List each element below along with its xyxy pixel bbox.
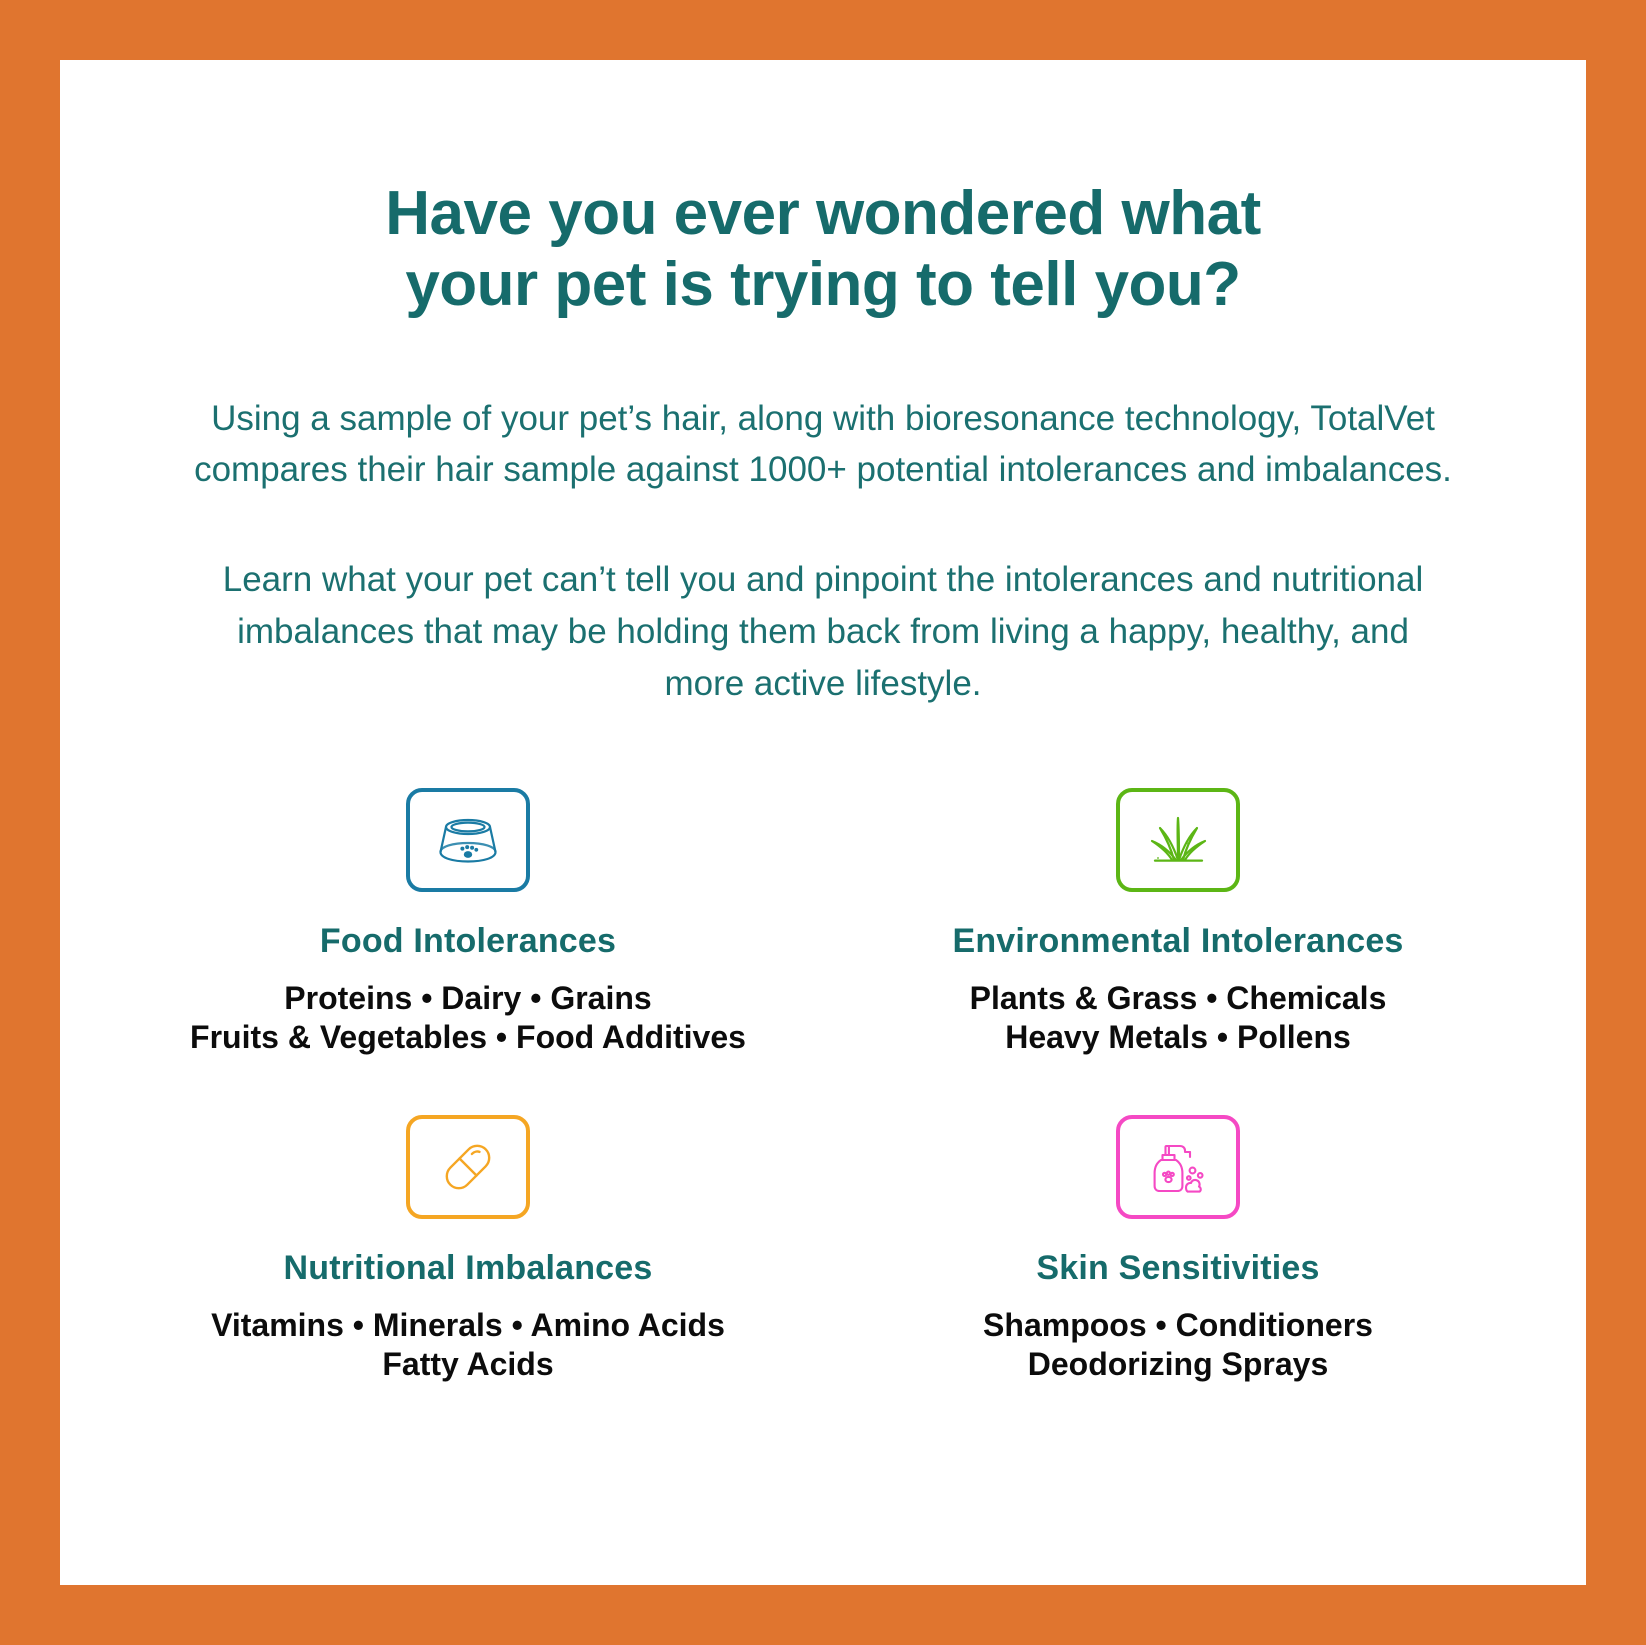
intro-paragraph-2: Learn what your pet can’t tell you and p… (193, 554, 1453, 709)
category-title: Food Intolerances (320, 922, 616, 961)
skin-sensitivities-icon-box (1116, 1115, 1240, 1219)
category-grid: Food Intolerances Proteins • Dairy • Gra… (113, 788, 1533, 1384)
category-description-line-2: Deodorizing Sprays (983, 1345, 1373, 1384)
category-description-line-1: Shampoos • Conditioners (983, 1306, 1373, 1345)
category-description-line-1: Plants & Grass • Chemicals (970, 979, 1387, 1018)
intro-paragraph-1: Using a sample of your pet’s hair, along… (193, 393, 1453, 497)
category-description-line-2: Fruits & Vegetables • Food Additives (190, 1018, 746, 1057)
category-description-line-2: Fatty Acids (211, 1345, 725, 1384)
category-title: Skin Sensitivities (1036, 1249, 1319, 1288)
orange-border-frame: Have you ever wondered what your pet is … (0, 0, 1646, 1645)
nutritional-imbalances-icon-box (406, 1115, 530, 1219)
category-title: Nutritional Imbalances (283, 1249, 652, 1288)
category-card-food-intolerances: Food Intolerances Proteins • Dairy • Gra… (113, 788, 823, 1057)
category-description: Proteins • Dairy • Grains Fruits & Veget… (190, 979, 746, 1057)
category-description: Shampoos • Conditioners Deodorizing Spra… (983, 1306, 1373, 1384)
category-card-skin-sensitivities: Skin Sensitivities Shampoos • Conditione… (823, 1115, 1533, 1384)
category-description-line-1: Proteins • Dairy • Grains (190, 979, 746, 1018)
pill-capsule-icon (438, 1138, 498, 1196)
category-card-environmental-intolerances: Environmental Intolerances Plants & Gras… (823, 788, 1533, 1057)
page-title: Have you ever wondered what your pet is … (263, 178, 1383, 321)
page-title-line-1: Have you ever wondered what (385, 179, 1260, 248)
category-title: Environmental Intolerances (952, 922, 1403, 961)
category-card-nutritional-imbalances: Nutritional Imbalances Vitamins • Minera… (113, 1115, 823, 1384)
grass-icon (1146, 812, 1210, 868)
food-intolerances-icon-box (406, 788, 530, 892)
category-description-line-2: Heavy Metals • Pollens (970, 1018, 1387, 1057)
dog-food-bowl-icon (433, 813, 503, 867)
environmental-intolerances-icon-box (1116, 788, 1240, 892)
shampoo-bottle-icon (1147, 1137, 1209, 1197)
content-panel: Have you ever wondered what your pet is … (60, 60, 1586, 1585)
category-description-line-1: Vitamins • Minerals • Amino Acids (211, 1306, 725, 1345)
category-description: Vitamins • Minerals • Amino Acids Fatty … (211, 1306, 725, 1384)
page-title-line-2: your pet is trying to tell you? (263, 249, 1383, 320)
category-description: Plants & Grass • Chemicals Heavy Metals … (970, 979, 1387, 1057)
